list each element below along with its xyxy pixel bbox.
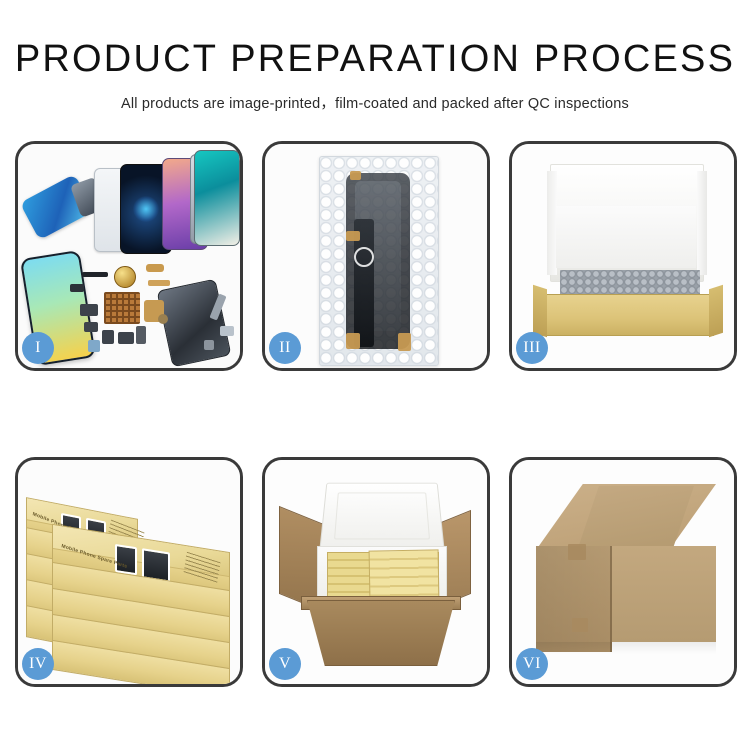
phone-blue-icon [20,174,94,240]
bubble-wrap-icon [319,156,439,366]
part-icon [220,326,234,336]
part-icon [82,272,108,277]
step-image-6 [512,460,734,684]
carton-right-face-icon [612,546,716,642]
tape-icon [572,618,588,632]
step-badge-2: II [269,332,301,364]
step-card-5: V [262,457,490,687]
box-window-icon [115,544,137,575]
carton-body-icon [307,600,455,666]
part-icon [158,314,168,324]
step-badge-5: V [269,648,301,680]
foam-sheet-icon [556,206,696,268]
kraft-box-base-icon [542,294,714,336]
carton-shadow [536,642,716,654]
part-icon [88,340,100,352]
carton-edge-icon [610,546,612,652]
part-icon [70,284,84,292]
step-badge-6: VI [516,648,548,680]
part-icon [148,280,170,286]
part-icon [80,304,98,316]
chip-grid-icon [104,292,140,324]
step-card-1: I [15,141,243,371]
phone-teal-icon [194,150,240,246]
step-card-2: II [262,141,490,371]
page-subtitle: All products are image-printed，film-coat… [0,92,750,113]
part-icon [84,322,98,332]
part-icon [102,330,114,344]
tape-icon [346,333,360,349]
bubble-highlight-icon [354,247,374,267]
header: PRODUCT PREPARATION PROCESS All products… [0,0,750,113]
speaker-part-icon [114,266,136,288]
product-preparation-infographic: PRODUCT PREPARATION PROCESS All products… [0,0,750,750]
part-icon [204,340,214,350]
step-image-1 [18,144,240,368]
process-steps-grid: I II [15,141,737,687]
page-title: PRODUCT PREPARATION PROCESS [0,40,750,78]
step-image-5 [265,460,487,684]
phone-back-housing-icon [157,279,232,368]
box-stack-icon: Mobile Phone Spare Parts Mob [22,478,240,680]
part-icon [118,332,134,344]
step-image-3 [512,144,734,368]
foam-lid-icon [319,483,445,552]
part-icon [146,264,164,272]
step-badge-1: I [22,332,54,364]
tape-icon [568,544,586,560]
part-icon [136,326,146,344]
step-image-2 [265,144,487,368]
yellow-boxes-icon [369,549,440,600]
tape-icon [346,231,360,241]
step-card-6: VI [509,457,737,687]
step-badge-3: III [516,332,548,364]
step-card-4: Mobile Phone Spare Parts Mob [15,457,243,687]
tape-icon [398,333,411,351]
tape-icon [350,171,361,180]
step-badge-4: IV [22,648,54,680]
step-card-3: III [509,141,737,371]
step-image-4: Mobile Phone Spare Parts Mob [18,460,240,684]
carton-shading [536,546,612,652]
